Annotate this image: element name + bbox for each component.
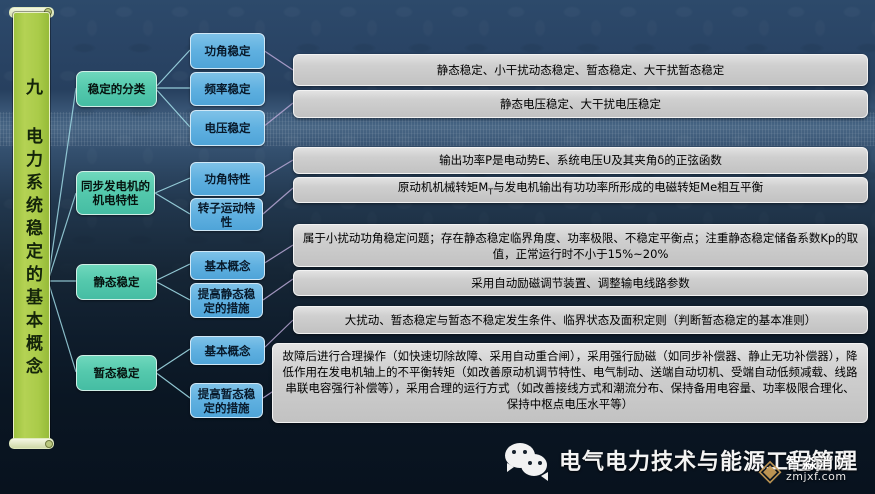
node-static-stability[interactable]: 静态稳定	[76, 264, 157, 300]
detail-text: 采用自动励磁调节装置、调整输电线路参数	[471, 275, 690, 292]
node-label: 同步发电机的机电特性	[81, 179, 150, 207]
node-label: 频率稳定	[205, 82, 251, 96]
detail-text: 静态稳定、小干扰动态稳定、暂态稳定、大干扰暂态稳定	[437, 62, 725, 79]
detail-text: 属于小扰动功角稳定问题；存在静态稳定临界角度、功率极限、不稳定平衡点；注重静态稳…	[301, 230, 860, 262]
node-label: 转子运动特性	[194, 201, 259, 229]
detail-transient-basic-concept: 大扰动、暂态稳定与暂态不稳定发生条件、临界状态及面积定则（判断暂态稳定的基本准则…	[293, 306, 868, 334]
node-label: 提高暂态稳定的措施	[194, 387, 259, 415]
node-basic-concept-static[interactable]: 基本概念	[190, 251, 265, 280]
slide-canvas: 九 电力系统稳定的基本概念 稳定的分类 同步发电机的机电特性 静态稳定 暂态稳定…	[0, 0, 875, 494]
node-generator-electromechanical[interactable]: 同步发电机的机电特性	[76, 171, 155, 215]
detail-rotor-motion-characteristic: 原动机机械转矩MT与发电机输出有功功率所形成的电磁转矩Me相互平衡	[293, 177, 868, 203]
node-label: 基本概念	[205, 344, 251, 358]
banner-title: 九 电力系统稳定的基本概念	[13, 12, 50, 445]
watermark: ◈ 智淼消防 zmjxf.com	[753, 452, 873, 492]
watermark-url: zmjxf.com	[786, 470, 847, 483]
node-label: 功角稳定	[205, 44, 251, 58]
detail-static-basic-concept: 属于小扰动功角稳定问题；存在静态稳定临界角度、功率极限、不稳定平衡点；注重静态稳…	[293, 224, 868, 267]
node-label: 稳定的分类	[88, 82, 146, 96]
node-stability-classification[interactable]: 稳定的分类	[76, 71, 157, 107]
detail-power-angle-characteristic: 输出功率P是电动势E、系统电压U及其夹角δ的正弦函数	[293, 147, 868, 174]
node-label: 静态稳定	[94, 275, 140, 289]
detail-improve-transient-measures: 故障后进行合理操作（如快速切除故障、采用自动重合闸），采用强行励磁（如同步补偿器…	[272, 343, 868, 423]
banner-cap-bottom	[9, 438, 54, 449]
node-label: 基本概念	[205, 259, 251, 273]
node-label: 电压稳定	[205, 121, 251, 135]
node-improve-static-measures[interactable]: 提高静态稳定的措施	[190, 283, 263, 318]
detail-text: 大扰动、暂态稳定与暂态不稳定发生条件、临界状态及面积定则（判断暂态稳定的基本准则…	[345, 312, 817, 329]
detail-voltage-stability: 静态电压稳定、大干扰电压稳定	[293, 90, 868, 118]
detail-text: 静态电压稳定、大干扰电压稳定	[500, 96, 661, 113]
node-label: 提高静态稳定的措施	[194, 287, 259, 315]
node-label: 暂态稳定	[94, 366, 140, 380]
detail-text: 输出功率P是电动势E、系统电压U及其夹角δ的正弦函数	[439, 152, 722, 169]
banner-cap-dot-bottom	[45, 440, 53, 448]
detail-text-pre: 原动机机械转矩M	[398, 180, 488, 194]
watermark-logo-icon: ◈	[753, 454, 787, 488]
node-power-angle-stability[interactable]: 功角稳定	[190, 33, 265, 69]
node-improve-transient-measures[interactable]: 提高暂态稳定的措施	[190, 383, 263, 418]
detail-text-post: 与发电机输出有功功率所形成的电磁转矩Me相互平衡	[493, 180, 763, 194]
node-rotor-motion-characteristic[interactable]: 转子运动特性	[190, 198, 263, 231]
banner-title-label: 九 电力系统稳定的基本概念	[14, 78, 49, 380]
node-frequency-stability[interactable]: 频率稳定	[190, 72, 265, 106]
node-label: 功角特性	[205, 172, 251, 186]
node-voltage-stability[interactable]: 电压稳定	[190, 110, 265, 146]
detail-text-composite: 原动机机械转矩MT与发电机输出有功功率所形成的电磁转矩Me相互平衡	[398, 179, 763, 200]
node-basic-concept-transient[interactable]: 基本概念	[190, 336, 265, 365]
wechat-icon	[505, 443, 549, 477]
detail-improve-static-measures: 采用自动励磁调节装置、调整输电线路参数	[293, 270, 868, 296]
node-power-angle-characteristic[interactable]: 功角特性	[190, 162, 265, 196]
detail-text: 故障后进行合理操作（如快速切除故障、采用自动重合闸），采用强行励磁（如同步补偿器…	[280, 348, 860, 412]
node-transient-stability[interactable]: 暂态稳定	[76, 355, 157, 391]
detail-power-angle-stability: 静态稳定、小干扰动态稳定、暂态稳定、大干扰暂态稳定	[293, 54, 868, 86]
